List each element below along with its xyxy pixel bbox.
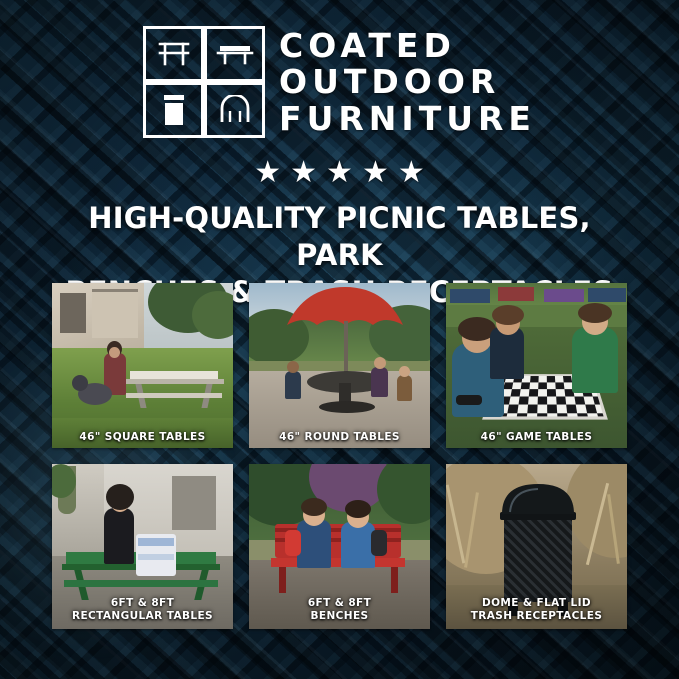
product-grid: 46" SQUARE TABLES bbox=[52, 283, 627, 629]
star-icon: ★ bbox=[254, 158, 281, 188]
round-tables-tile[interactable]: 46" ROUND TABLES bbox=[249, 283, 430, 448]
arch-bench-icon bbox=[204, 82, 265, 138]
headline-line-1: HIGH-QUALITY PICNIC TABLES, PARK bbox=[40, 200, 639, 274]
game-tables-tile[interactable]: 46" GAME TABLES bbox=[446, 283, 627, 448]
tile-caption-line-1: 6FT & 8FT bbox=[54, 597, 231, 609]
star-icon: ★ bbox=[362, 158, 389, 188]
logo-wordmark: COATED OUTDOOR FURNITURE bbox=[279, 29, 536, 136]
star-icon: ★ bbox=[326, 158, 353, 188]
square-tables-photo bbox=[52, 283, 233, 448]
round-tables-photo bbox=[249, 283, 430, 448]
tile-caption: 6FT & 8FT BENCHES bbox=[249, 594, 430, 627]
tile-caption: 6FT & 8FT RECTANGULAR TABLES bbox=[52, 594, 233, 627]
product-poster: COATED OUTDOOR FURNITURE ★ ★ ★ ★ ★ HIGH-… bbox=[0, 0, 679, 679]
trash-receptacle-icon bbox=[143, 82, 204, 138]
benches-tile[interactable]: 6FT & 8FT BENCHES bbox=[249, 464, 430, 629]
square-tables-tile[interactable]: 46" SQUARE TABLES bbox=[52, 283, 233, 448]
tile-caption-line-1: 6FT & 8FT bbox=[251, 597, 428, 609]
bench-icon bbox=[204, 26, 265, 82]
star-icon: ★ bbox=[398, 158, 425, 188]
tile-caption-line-2: RECTANGULAR TABLES bbox=[54, 610, 231, 622]
rectangular-tables-tile[interactable]: 6FT & 8FT RECTANGULAR TABLES bbox=[52, 464, 233, 629]
trash-receptacles-tile[interactable]: DOME & FLAT LID TRASH RECEPTACLES bbox=[446, 464, 627, 629]
tile-caption-line-2: TRASH RECEPTACLES bbox=[448, 610, 625, 622]
game-tables-photo bbox=[446, 283, 627, 448]
star-icon: ★ bbox=[290, 158, 317, 188]
star-rating: ★ ★ ★ ★ ★ bbox=[0, 158, 679, 188]
logo-line-3: FURNITURE bbox=[279, 102, 536, 136]
tile-caption: DOME & FLAT LID TRASH RECEPTACLES bbox=[446, 594, 627, 627]
tile-caption: 46" ROUND TABLES bbox=[249, 428, 430, 448]
tile-caption: 46" GAME TABLES bbox=[446, 428, 627, 448]
logo-line-1: COATED bbox=[279, 29, 536, 63]
tile-caption-line-2: BENCHES bbox=[251, 610, 428, 622]
picnic-table-icon bbox=[143, 26, 204, 82]
brand-logo: COATED OUTDOOR FURNITURE bbox=[0, 26, 679, 138]
logo-mark-grid bbox=[143, 26, 265, 138]
tile-caption: 46" SQUARE TABLES bbox=[52, 428, 233, 448]
tile-caption-line-1: DOME & FLAT LID bbox=[448, 597, 625, 609]
logo-line-2: OUTDOOR bbox=[279, 65, 536, 99]
